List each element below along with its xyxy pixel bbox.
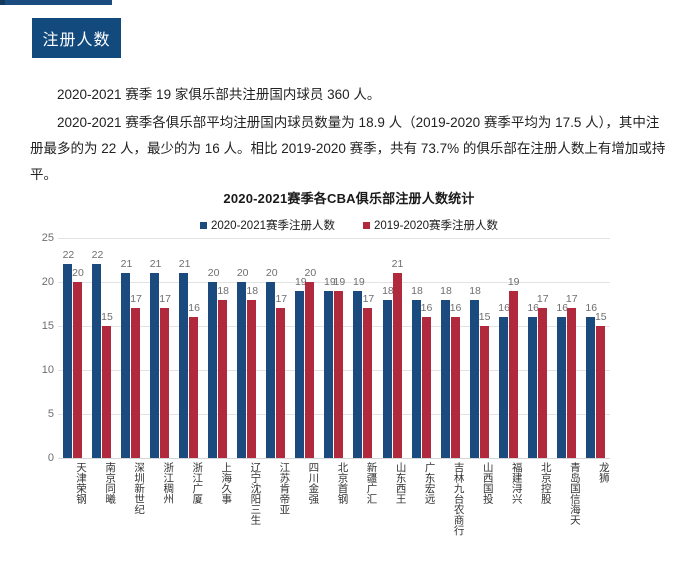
bar-value-label: 16: [188, 302, 200, 314]
bar-series-0: 18: [470, 300, 479, 458]
x-axis-tick-label: 山西国投: [468, 462, 494, 566]
bar-series-1: 20: [305, 282, 314, 458]
bar-value-label: 18: [440, 285, 452, 297]
x-axis-tick-label: 新疆广汇: [351, 462, 377, 566]
bar-series-1: 16: [189, 317, 198, 458]
bar-series-0: 20: [266, 282, 275, 458]
top-accent-rule-cap: [0, 0, 5, 5]
x-axis-tick-label: 广东宏远: [410, 462, 436, 566]
bar-group: 1917: [348, 238, 377, 458]
bar-group: 1617: [523, 238, 552, 458]
bar-group: 1920: [290, 238, 319, 458]
top-accent-rule: [0, 0, 112, 5]
bar-value-label: 20: [237, 267, 249, 279]
bar-series-1: 17: [160, 308, 169, 458]
y-axis-tick-label: 25: [24, 232, 54, 244]
x-axis-tick-label: 福建浔兴: [497, 462, 523, 566]
legend-label-series-1: 2019-2020赛季注册人数: [374, 217, 498, 233]
bar-series-1: 17: [538, 308, 547, 458]
bar-group: 2220: [58, 238, 87, 458]
bar-value-label: 20: [304, 267, 316, 279]
y-axis-tick-label: 0: [24, 452, 54, 464]
bar-series-0: 21: [150, 273, 159, 458]
bar-value-label: 20: [266, 267, 278, 279]
y-axis-tick-label: 5: [24, 408, 54, 420]
bar-series-0: 22: [63, 264, 72, 458]
x-axis-tick-label: 四川金强: [293, 462, 319, 566]
bar-series-1: 16: [451, 317, 460, 458]
bar-group: 1816: [407, 238, 436, 458]
bar-group: 2017: [261, 238, 290, 458]
x-axis-tick-label: 南京同曦: [90, 462, 116, 566]
bar-group: 2018: [203, 238, 232, 458]
bar-value-label: 15: [595, 311, 607, 323]
bar-value-label: 18: [246, 285, 258, 297]
plot-area: 2220221521172117211620182018201719201919…: [58, 238, 610, 458]
bar-value-label: 20: [208, 267, 220, 279]
bar-value-label: 21: [392, 258, 404, 270]
bar-value-label: 19: [334, 276, 346, 288]
bar-series-0: 16: [586, 317, 595, 458]
bar-group: 1619: [494, 238, 523, 458]
bar-series-1: 19: [334, 291, 343, 458]
axis-baseline: [58, 458, 610, 459]
bar-series-0: 20: [237, 282, 246, 458]
bar-value-label: 17: [275, 293, 287, 305]
legend-swatch-series-1: [363, 222, 370, 229]
bar-group: 2117: [145, 238, 174, 458]
bar-series-1: 15: [102, 326, 111, 458]
bar-chart: 2020-2021赛季各CBA俱乐部注册人数统计 2020-2021赛季注册人数…: [0, 186, 698, 566]
y-axis-tick-label: 20: [24, 276, 54, 288]
bar-value-label: 17: [130, 293, 142, 305]
body-copy: 2020-2021 赛季 19 家俱乐部共注册国内球员 360 人。 2020-…: [30, 82, 670, 190]
plot-wrap: 0510152025 22202215211721172116201820182…: [0, 238, 698, 566]
bar-series-0: 16: [499, 317, 508, 458]
legend-label-series-0: 2020-2021赛季注册人数: [211, 217, 335, 233]
bar-value-label: 18: [469, 285, 481, 297]
bar-series-1: 18: [218, 300, 227, 458]
bar-group: 1815: [465, 238, 494, 458]
x-axis: 天津荣钢南京同曦深圳新世纪浙江稠州浙江广厦上海久事辽宁沈阳三生江苏肯帝亚四川金强…: [58, 462, 610, 566]
x-axis-tick-label: 吉林九台农商行: [439, 462, 465, 566]
bar-series-0: 22: [92, 264, 101, 458]
bar-group: 1615: [581, 238, 610, 458]
bar-series-1: 21: [393, 273, 402, 458]
bar-series-0: 21: [121, 273, 130, 458]
bar-value-label: 16: [450, 302, 462, 314]
x-axis-tick-label: 江苏肯帝亚: [264, 462, 290, 566]
bar-value-label: 22: [92, 249, 104, 261]
bar-value-label: 22: [63, 249, 75, 261]
bar-series-0: 18: [412, 300, 421, 458]
y-axis-tick-label: 10: [24, 364, 54, 376]
section-badge-label: 注册人数: [42, 26, 110, 50]
legend-item-series-0: 2020-2021赛季注册人数: [200, 217, 335, 233]
bar-value-label: 21: [179, 258, 191, 270]
bar-value-label: 19: [508, 276, 520, 288]
bar-group: 1821: [378, 238, 407, 458]
bar-group: 1919: [319, 238, 348, 458]
bar-group: 2215: [87, 238, 116, 458]
bar-series-1: 15: [480, 326, 489, 458]
bar-value-label: 18: [217, 285, 229, 297]
bar-series-0: 19: [353, 291, 362, 458]
bar-value-label: 20: [72, 267, 84, 279]
bar-series-0: 19: [324, 291, 333, 458]
bar-value-label: 18: [411, 285, 423, 297]
x-axis-tick-label: 龙狮: [584, 462, 610, 566]
x-axis-tick-label: 上海久事: [206, 462, 232, 566]
bar-value-label: 15: [101, 311, 113, 323]
chart-legend: 2020-2021赛季注册人数 2019-2020赛季注册人数: [0, 217, 698, 233]
bar-series-0: 19: [295, 291, 304, 458]
bar-series-1: 19: [509, 291, 518, 458]
bar-series-1: 16: [422, 317, 431, 458]
bar-series-1: 20: [73, 282, 82, 458]
legend-swatch-series-0: [200, 222, 207, 229]
bar-value-label: 17: [537, 293, 549, 305]
bar-group: 2116: [174, 238, 203, 458]
x-axis-tick-label: 青岛国信海天: [555, 462, 581, 566]
section-badge: 注册人数: [32, 18, 121, 58]
x-axis-tick-label: 山东西王: [381, 462, 407, 566]
bar-value-label: 21: [121, 258, 133, 270]
bar-series-0: 21: [179, 273, 188, 458]
x-axis-tick-label: 浙江广厦: [177, 462, 203, 566]
bar-series-0: 20: [208, 282, 217, 458]
bar-value-label: 19: [353, 276, 365, 288]
bar-series-0: 16: [528, 317, 537, 458]
bar-value-label: 16: [421, 302, 433, 314]
bar-series-1: 17: [363, 308, 372, 458]
bar-value-label: 15: [479, 311, 491, 323]
legend-item-series-1: 2019-2020赛季注册人数: [363, 217, 498, 233]
bar-group: 2117: [116, 238, 145, 458]
x-axis-tick-label: 浙江稠州: [148, 462, 174, 566]
x-axis-tick-label: 天津荣钢: [61, 462, 87, 566]
bar-series-0: 18: [383, 300, 392, 458]
bar-value-label: 17: [159, 293, 171, 305]
paragraph-1: 2020-2021 赛季 19 家俱乐部共注册国内球员 360 人。: [30, 82, 670, 108]
bar-series-0: 18: [441, 300, 450, 458]
bar-series-1: 17: [276, 308, 285, 458]
bar-series-1: 18: [247, 300, 256, 458]
bar-group: 2018: [232, 238, 261, 458]
bar-series-1: 15: [596, 326, 605, 458]
y-axis-tick-label: 15: [24, 320, 54, 332]
bar-value-label: 21: [150, 258, 162, 270]
x-axis-tick-label: 深圳新世纪: [119, 462, 145, 566]
bar-group: 1816: [436, 238, 465, 458]
paragraph-2: 2020-2021 赛季各俱乐部平均注册国内球员数量为 18.9 人（2019-…: [30, 110, 670, 188]
bar-value-label: 17: [566, 293, 578, 305]
x-axis-tick-label: 北京控股: [526, 462, 552, 566]
x-axis-tick-label: 辽宁沈阳三生: [235, 462, 261, 566]
y-axis: 0510152025: [20, 238, 54, 458]
bar-group: 1617: [552, 238, 581, 458]
bar-series-0: 16: [557, 317, 566, 458]
bar-value-label: 17: [363, 293, 375, 305]
bar-series-1: 17: [131, 308, 140, 458]
x-axis-tick-label: 北京首钢: [322, 462, 348, 566]
bar-series-1: 17: [567, 308, 576, 458]
chart-title: 2020-2021赛季各CBA俱乐部注册人数统计: [0, 188, 698, 207]
